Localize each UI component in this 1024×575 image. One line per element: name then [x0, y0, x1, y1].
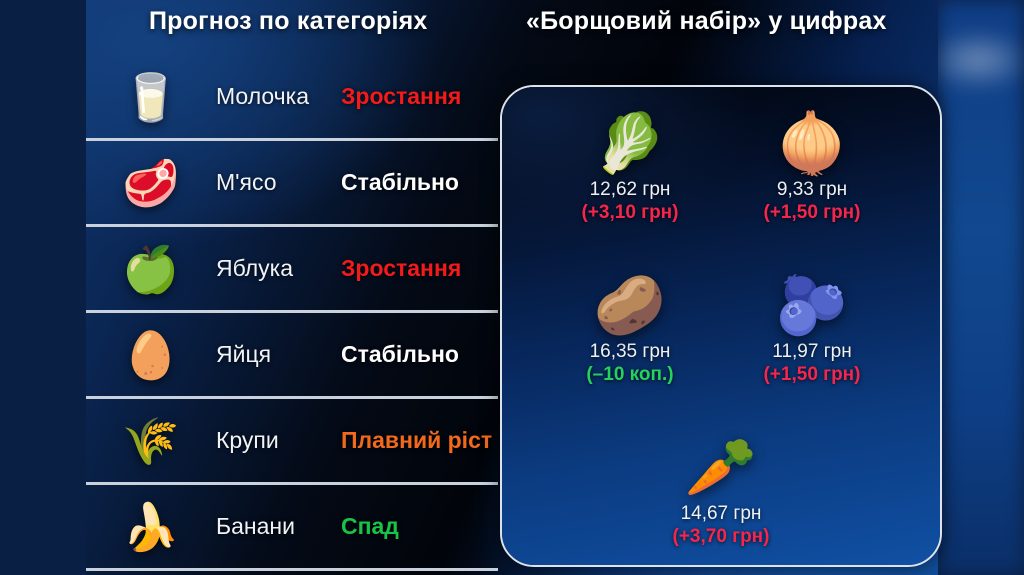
- carrot-icon: 🥕: [631, 439, 811, 497]
- eggs-icon: 🥚: [122, 332, 179, 378]
- table-row: 🥚 Яйця Стабільно: [86, 313, 498, 399]
- forecast-icon-cell: 🥚: [86, 313, 216, 396]
- onion-icon: 🧅: [722, 115, 902, 173]
- table-row: 🍌 Банани Спад: [86, 485, 498, 571]
- table-row: 🥛 Молочка Зростання: [86, 55, 498, 141]
- price-delta: (+3,70 грн): [631, 526, 811, 548]
- forecast-category-label: М'ясо: [216, 169, 341, 196]
- price-delta: (–10 коп.): [540, 364, 720, 386]
- forecast-status-badge: Стабільно: [341, 341, 498, 368]
- green-apples-icon: 🍏: [122, 246, 179, 292]
- price-item: 🥔 16,35 грн (–10 коп.): [540, 277, 720, 386]
- price-delta: (+1,50 грн): [722, 364, 902, 386]
- forecast-category-label: Яйця: [216, 341, 341, 368]
- price-value: 12,62 грн: [540, 179, 720, 201]
- price-delta: (+3,10 грн): [540, 202, 720, 224]
- forecast-status-badge: Спад: [341, 513, 498, 540]
- table-row: 🥩 М'ясо Стабільно: [86, 141, 498, 227]
- table-row: 🌾 Крупи Плавний ріст: [86, 399, 498, 485]
- forecast-icon-cell: 🍏: [86, 227, 216, 310]
- price-delta: (+1,50 грн): [722, 202, 902, 224]
- forecast-table: 🥛 Молочка Зростання 🥩 М'ясо Стабільно 🍏 …: [86, 55, 498, 571]
- potato-icon: 🥔: [540, 277, 720, 335]
- price-value: 16,35 грн: [540, 341, 720, 363]
- price-item: 🧅 9,33 грн (+1,50 грн): [722, 115, 902, 224]
- forecast-status-badge: Зростання: [341, 255, 498, 282]
- price-value: 9,33 грн: [722, 179, 902, 201]
- forecast-category-label: Банани: [216, 513, 341, 540]
- forecast-icon-cell: 🥛: [86, 55, 216, 138]
- meat-steak-icon: 🥩: [122, 160, 179, 206]
- price-item: 🫐 11,97 грн (+1,50 грн): [722, 277, 902, 386]
- infographic-content: Прогноз по категоріях «Борщовий набір» у…: [86, 0, 938, 575]
- forecast-icon-cell: 🍌: [86, 485, 216, 568]
- forecast-category-label: Яблука: [216, 255, 341, 282]
- bananas-icon: 🍌: [122, 504, 179, 550]
- forecast-title: Прогноз по категоріях: [149, 7, 427, 36]
- price-value: 14,67 грн: [631, 503, 811, 525]
- forecast-status-badge: Плавний ріст: [341, 427, 498, 454]
- price-item: 🥬 12,62 грн (+3,10 грн): [540, 115, 720, 224]
- forecast-status-badge: Стабільно: [341, 169, 498, 196]
- borscht-price-panel: 🥬 12,62 грн (+3,10 грн) 🧅 9,33 грн (+1,5…: [500, 85, 942, 567]
- forecast-category-label: Молочка: [216, 83, 341, 110]
- grain-sack-icon: 🌾: [122, 418, 179, 464]
- price-value: 11,97 грн: [722, 341, 902, 363]
- infographic-stage: Прогноз по категоріях «Борщовий набір» у…: [0, 0, 1024, 575]
- borscht-title: «Борщовий набір» у цифрах: [526, 7, 887, 36]
- table-row: 🍏 Яблука Зростання: [86, 227, 498, 313]
- cabbage-icon: 🥬: [540, 115, 720, 173]
- forecast-category-label: Крупи: [216, 427, 341, 454]
- beetroot-icon: 🫐: [722, 277, 902, 335]
- forecast-icon-cell: 🌾: [86, 399, 216, 482]
- blurred-right-letterbox: [938, 0, 1024, 575]
- milk-glass-icon: 🥛: [122, 74, 179, 120]
- price-item: 🥕 14,67 грн (+3,70 грн): [631, 439, 811, 548]
- forecast-status-badge: Зростання: [341, 83, 498, 110]
- forecast-icon-cell: 🥩: [86, 141, 216, 224]
- blurred-left-letterbox: [0, 0, 86, 575]
